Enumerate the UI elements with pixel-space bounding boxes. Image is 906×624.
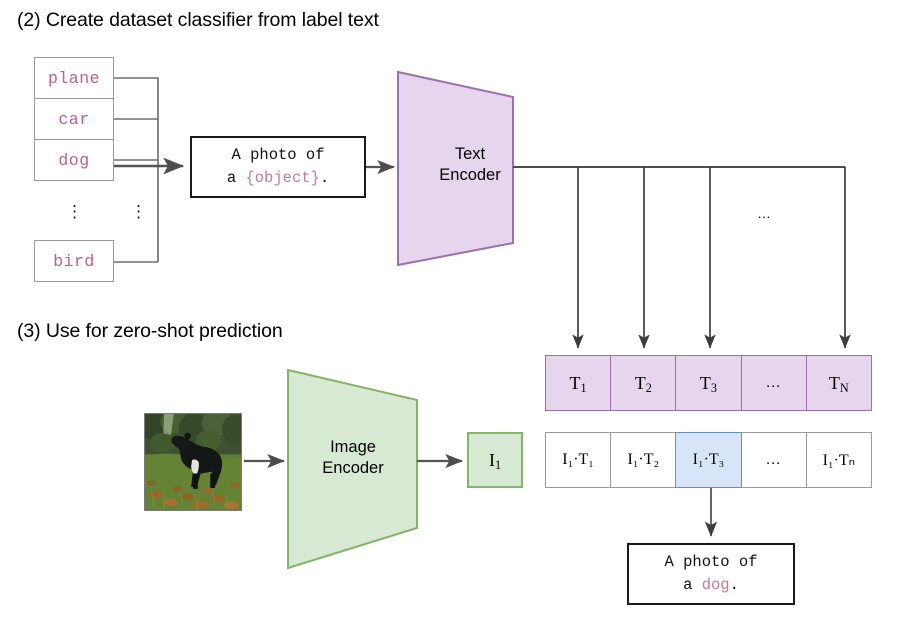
vertical-ellipsis-left: ⋮ <box>66 203 80 220</box>
similarity-cell-label: I₁·Tₙ <box>823 450 855 470</box>
image-encoder-label-line1: Image <box>288 437 418 458</box>
prediction-result-box: A photo of a dog. <box>627 543 795 605</box>
similarity-cell-label: I₁·T₃ <box>693 451 725 469</box>
similarity-cell[interactable]: I₁·T₁ <box>545 432 611 488</box>
prediction-result-prefix: a <box>683 576 702 594</box>
bus-ellipsis: … <box>757 205 772 221</box>
text-embedding-cell[interactable]: TN <box>806 355 872 411</box>
text-encoder-label-line2: Encoder <box>410 165 530 186</box>
similarity-cell[interactable]: I₁·T₂ <box>610 432 676 488</box>
similarity-cell-ellipsis: … <box>741 432 807 488</box>
similarity-cell-label: I₁·T₁ <box>562 451 594 469</box>
bus-drop-arrows <box>578 167 845 348</box>
class-label-plane[interactable]: plane <box>34 57 114 99</box>
image-encoder-label: Image Encoder <box>288 437 418 479</box>
class-label-dog[interactable]: dog <box>34 139 114 181</box>
prompt-template-box[interactable]: A photo of a {object}. <box>190 136 366 198</box>
image-embedding-label: I1 <box>489 450 501 471</box>
prompt-template-slot: {object} <box>245 169 319 187</box>
image-encoder-label-line2: Encoder <box>288 458 418 479</box>
input-photo-dog <box>144 413 242 511</box>
prediction-result-slot: dog <box>702 576 730 594</box>
text-embedding-cell[interactable]: T2 <box>610 355 676 411</box>
text-embedding-ellipsis: … <box>766 375 782 392</box>
input-photo-dog-graphic <box>145 414 241 510</box>
text-embedding-cell-label: T2 <box>635 373 652 394</box>
similarity-score-row: I₁·T₁ I₁·T₂ I₁·T₃ … I₁·Tₙ <box>545 432 872 488</box>
text-embedding-cell-label: T1 <box>570 373 587 394</box>
prompt-template-prefix: a <box>227 169 246 187</box>
similarity-cell-selected[interactable]: I₁·T₃ <box>675 432 741 488</box>
prediction-result-line2: a dog. <box>683 574 739 597</box>
prompt-template-line2: a {object}. <box>227 167 329 190</box>
text-embedding-cell[interactable]: T3 <box>675 355 741 411</box>
text-embedding-cell-ellipsis: … <box>741 355 807 411</box>
text-embedding-cell-label: TN <box>829 373 849 394</box>
prediction-result-line1: A photo of <box>664 551 757 574</box>
text-encoder-label: Text Encoder <box>410 144 530 186</box>
similarity-ellipsis: … <box>766 452 782 469</box>
section-title-3: (3) Use for zero-shot prediction <box>17 320 283 343</box>
figure-canvas: (2) Create dataset classifier from label… <box>0 0 906 624</box>
image-embedding-box[interactable]: I1 <box>467 432 523 488</box>
text-encoder-label-line1: Text <box>410 144 530 165</box>
class-label-bird[interactable]: bird <box>34 240 114 282</box>
text-embedding-cell[interactable]: T1 <box>545 355 611 411</box>
vertical-ellipsis-right: ⋮ <box>130 203 144 220</box>
similarity-cell-label: I₁·T₂ <box>627 451 659 469</box>
prediction-result-suffix: . <box>730 576 739 594</box>
text-embedding-cell-label: T3 <box>700 373 717 394</box>
prompt-template-suffix: . <box>320 169 329 187</box>
similarity-cell[interactable]: I₁·Tₙ <box>806 432 872 488</box>
label-bracket-connectors <box>114 78 158 262</box>
section-title-2: (2) Create dataset classifier from label… <box>17 9 379 32</box>
text-embedding-row: T1 T2 T3 … TN <box>545 355 872 411</box>
class-label-car[interactable]: car <box>34 98 114 140</box>
prompt-template-line1: A photo of <box>231 144 324 167</box>
diagram-vector-layer <box>0 0 906 624</box>
